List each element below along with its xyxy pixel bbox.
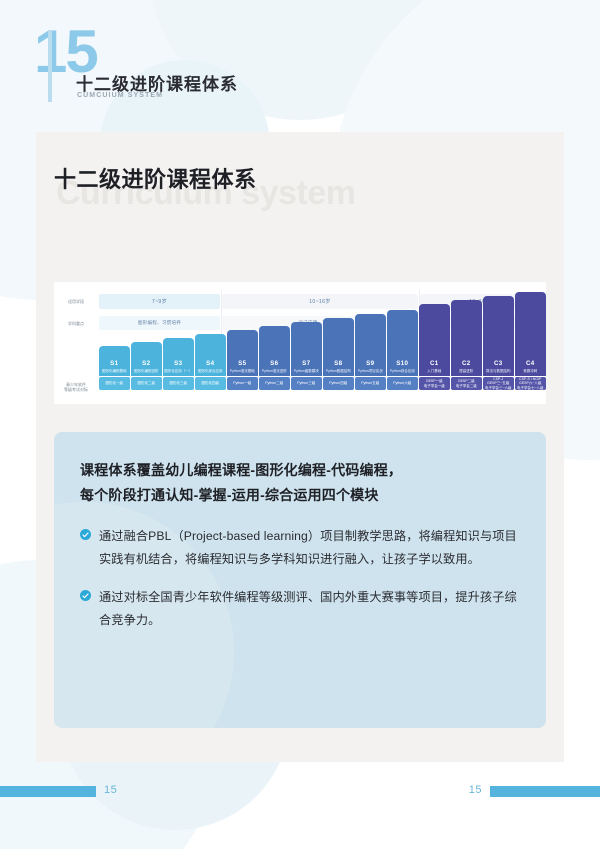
chart-level-block: S9Python项目实战: [355, 314, 386, 376]
chart-level-exam: Python四级: [323, 377, 354, 390]
chart-divider: [221, 290, 222, 336]
chart-level-block: S6Python语法进阶: [259, 326, 290, 376]
chart-level-code: S7: [302, 360, 310, 367]
content-card: Curriculum system 十二级进阶课程体系 基于FSC模型设计，科学…: [36, 132, 564, 762]
chart-level-block: S4图形化综合应用: [195, 334, 226, 376]
title-block: Curriculum system 十二级进阶课程体系: [54, 158, 564, 214]
chart-level-code: S1: [110, 360, 118, 367]
highlight-bullet: 通过对标全国青少年软件编程等级测评、国内外重大赛事等项目，提升孩子综合竞争力。: [80, 586, 518, 631]
chart-level-code: S3: [174, 360, 182, 367]
header-accent-bar: [48, 30, 52, 102]
chart-level-desc: Python语法进阶: [261, 369, 288, 373]
chart-level-desc: Python数据结构: [325, 369, 352, 373]
chart-stage-header: 7~9岁: [99, 294, 220, 309]
chart-level-desc: 提高进阶: [458, 369, 474, 373]
chart-level-code: S5: [238, 360, 246, 367]
chart-level-exam: 图形化四级: [195, 377, 226, 390]
chart-level-code: C4: [526, 360, 535, 367]
highlight-bullet-text: 通过对标全国青少年软件编程等级测评、国内外重大赛事等项目，提升孩子综合竞争力。: [99, 586, 518, 631]
highlight-card: 课程体系覆盖幼儿编程课程-图形化编程-代码编程， 每个阶段打通认知-掌握-运用-…: [54, 432, 546, 728]
footer-bar-left: [0, 786, 96, 797]
chart-level-desc: 图形化应用（一）: [163, 369, 193, 373]
highlight-heading-line-2: 每个阶段打通认知-掌握-运用-综合运用四个模块: [80, 483, 518, 508]
chart-level-exam: Python二级: [259, 377, 290, 390]
chart-level-code: C3: [494, 360, 503, 367]
chart-level-exam: Python一级: [227, 377, 258, 390]
chart-level-block: C1入门基础: [419, 304, 450, 376]
highlight-bullet-text: 通过融合PBL（Project-based learning）项目制教学思路，将…: [99, 525, 518, 570]
check-circle-icon: [80, 529, 91, 540]
chart-level-exam: CSP-JGESP三~五级电子学会三~六级: [483, 377, 514, 390]
chart-level-block: S1图形化编程基础: [99, 346, 130, 376]
chart-level-exam: 图形化二级: [131, 377, 162, 390]
chart-stage-header: 10~16岁: [222, 294, 418, 309]
chart-level-block: C4竞赛冲刺: [515, 292, 546, 376]
page-title: 十二级进阶课程体系: [54, 162, 257, 194]
chart-level-desc: 竞赛冲刺: [522, 369, 538, 373]
chart-level-exam: Python六级: [387, 377, 418, 390]
chart-level-desc: Python项目实战: [357, 369, 384, 373]
chart-row-label: 学科重点: [58, 321, 94, 326]
chart-level-exam: Python五级: [355, 377, 386, 390]
chart-level-code: S4: [206, 360, 214, 367]
chart-level-code: S6: [270, 360, 278, 367]
chart-row-label: 适用学段: [58, 299, 94, 304]
footer-page-number-right: 15: [469, 784, 482, 796]
chart-level-code: S8: [334, 360, 342, 367]
chart-row-label: 青少年软件等级考试对标: [58, 382, 94, 393]
chart-level-exam: 图形化三级: [163, 377, 194, 390]
chart-level-code: S10: [396, 360, 408, 367]
chart-inner: 适用学段学科重点青少年软件等级考试对标7~9岁图形编程、习惯培养10~16岁语法…: [54, 282, 546, 404]
page-header: 15 十二级进阶课程体系 CUMCUIUM SYSTEM: [28, 24, 348, 98]
chart-level-exam: GESP二级电子学会二级: [451, 377, 482, 390]
chart-level-block: S5Python语法基础: [227, 330, 258, 376]
chart-level-desc: 算法与数据结构: [485, 369, 512, 373]
chart-level-block: S3图形化应用（一）: [163, 338, 194, 376]
footer-bar-right: [490, 786, 600, 797]
page-root: 15 十二级进阶课程体系 CUMCUIUM SYSTEM Curriculum …: [0, 0, 600, 849]
chart-level-block: S8Python数据结构: [323, 318, 354, 376]
chart-level-desc: 入门基础: [426, 369, 442, 373]
chart-level-block: S7Python函数模块: [291, 322, 322, 376]
chart-level-exam: GESP一级电子学会一级: [419, 377, 450, 390]
curriculum-chart: 适用学段学科重点青少年软件等级考试对标7~9岁图形编程、习惯培养10~16岁语法…: [54, 282, 546, 404]
chart-level-code: C1: [430, 360, 439, 367]
header-title-en: CUMCUIUM SYSTEM: [77, 92, 163, 99]
highlight-heading: 课程体系覆盖幼儿编程课程-图形化编程-代码编程， 每个阶段打通认知-掌握-运用-…: [80, 458, 518, 507]
chart-level-desc: 图形化编程进阶: [133, 369, 160, 373]
chart-level-desc: Python语法基础: [229, 369, 256, 373]
chart-level-desc: 图形化编程基础: [101, 369, 128, 373]
chart-level-exam: 图形化一级: [99, 377, 130, 390]
highlight-heading-line-1: 课程体系覆盖幼儿编程课程-图形化编程-代码编程，: [80, 458, 518, 483]
chart-level-code: C2: [462, 360, 471, 367]
footer-page-number-left: 15: [104, 784, 117, 796]
chart-stage-focus: 图形编程、习惯培养: [99, 316, 220, 330]
chart-level-block: S2图形化编程进阶: [131, 342, 162, 376]
check-circle-icon: [80, 590, 91, 601]
chart-level-desc: Python综合应用: [389, 369, 416, 373]
chart-level-code: S2: [142, 360, 150, 367]
chart-level-block: C3算法与数据结构: [483, 296, 514, 376]
chart-level-block: C2提高进阶: [451, 300, 482, 376]
chart-level-exam: Python三级: [291, 377, 322, 390]
highlight-bullet-list: 通过融合PBL（Project-based learning）项目制教学思路，将…: [80, 525, 518, 631]
chart-level-block: S10Python综合应用: [387, 310, 418, 376]
chart-level-desc: Python函数模块: [293, 369, 320, 373]
highlight-bullet: 通过融合PBL（Project-based learning）项目制教学思路，将…: [80, 525, 518, 570]
chart-level-exam: CSP-S / NOIPGESP六~八级电子学会七~八级: [515, 377, 546, 390]
chart-level-desc: 图形化综合应用: [197, 369, 224, 373]
chart-level-code: S9: [366, 360, 374, 367]
